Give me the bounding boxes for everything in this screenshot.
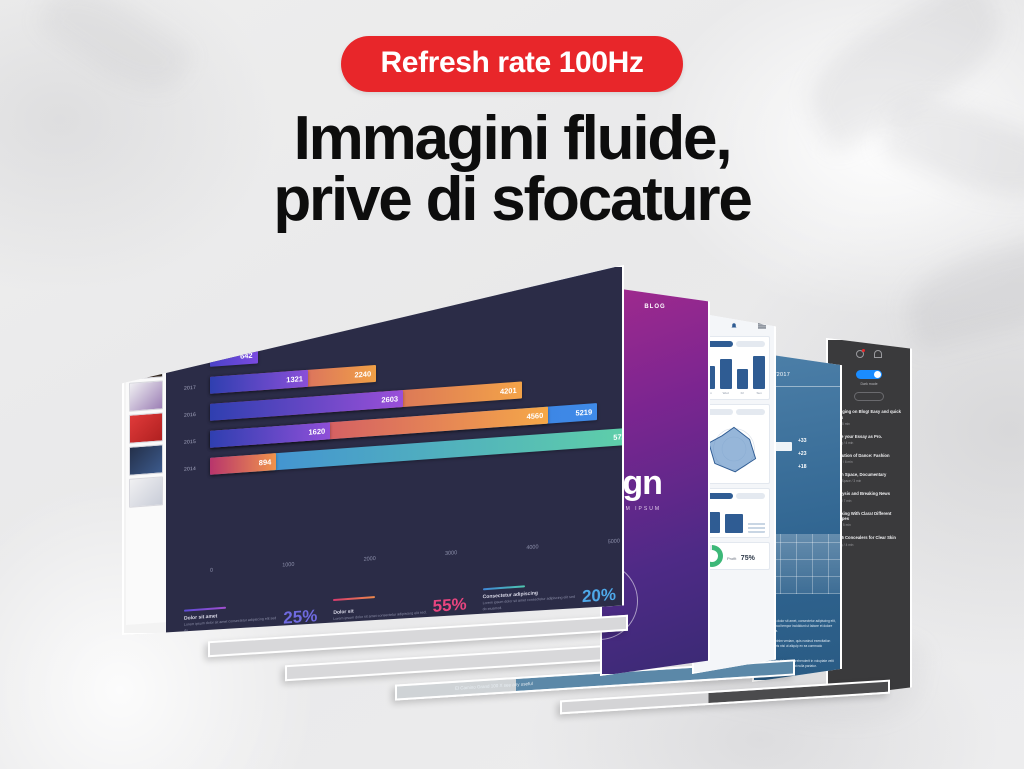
bar-category-label: 2015 [184, 437, 210, 445]
report-value: +18 [798, 464, 806, 470]
article-meta: Beauty / 4 min [833, 543, 905, 547]
article-title: Blogging on Blog! Easy and quick ways [833, 409, 905, 420]
stat-text: Consectetur adipiscing Lorem ipsum dolor… [483, 588, 576, 612]
list-item[interactable]: Blogging on Blog! Easy and quick waysBlo… [833, 409, 905, 426]
period-toggle[interactable] [703, 341, 765, 347]
period-year[interactable] [736, 341, 766, 347]
headline-line-1: Immagini fluide, [294, 104, 731, 173]
list-item[interactable]: Top 5 Concealers for Clear SkinBeauty / … [833, 535, 905, 546]
report-value: +23 [798, 451, 806, 457]
dark-mode-toggle[interactable] [856, 370, 882, 379]
bar-segment: 1321 [210, 370, 308, 394]
screen-presentation[interactable]: Infographic Chart 2018642201722401321201… [122, 265, 624, 635]
article-meta: Writing / 4 min [833, 441, 905, 445]
bar-segment: 1620 [210, 422, 330, 448]
stat-rule [184, 607, 226, 612]
axis-tick: 5000 [608, 538, 620, 545]
list-item[interactable]: Make your Essay as Pro.Writing / 4 min [833, 434, 905, 445]
article-meta: Dance / 6 min [833, 460, 905, 464]
blog-pill[interactable] [854, 392, 884, 401]
bell-icon[interactable] [730, 322, 738, 330]
stat-block: Consectetur adipiscing Lorem ipsum dolor… [483, 579, 616, 612]
x-axis: 0 1000 2000 3000 4000 5000 [210, 538, 620, 573]
stat-block: Dolor sit amet Lorem ipsum dolor sit ame… [184, 600, 317, 633]
article-title: Make your Essay as Pro. [833, 434, 905, 440]
stat-row: Consectetur adipiscing Lorem ipsum dolor… [483, 585, 616, 612]
article-meta: Open Space / 3 min [833, 479, 905, 483]
stat-text: Dolor sit Lorem ipsum dolor sit amet con… [333, 603, 426, 622]
radar-chart [703, 419, 765, 479]
stat-rule [333, 596, 375, 601]
article-meta: News / 7 min [833, 499, 905, 503]
slide-canvas[interactable]: Infographic Chart 2018642201722401321201… [166, 265, 624, 635]
stat-text: Dolor sit amet Lorem ipsum dolor sit ame… [184, 609, 277, 633]
article-title: Analysis and Breaking News [833, 491, 905, 497]
bar-chart-horizontal: 2018642201722401321201642012603201552194… [184, 319, 618, 485]
article-meta: Blog / 5 min [833, 422, 905, 426]
article-title: Top 5 Concealers for Clear Skin [833, 535, 905, 541]
bar-chart-2 [703, 503, 765, 533]
bar-category-label: 2017 [184, 383, 210, 391]
report-values: +33 +23 +18 [798, 438, 806, 477]
slide-thumbnail[interactable] [129, 444, 163, 475]
bar-category-label: 2018 [184, 356, 210, 364]
axis-tick: Wed [720, 391, 732, 395]
axis-tick: Sun [753, 391, 765, 395]
profit-value: 75% [741, 555, 755, 562]
stat-percent: 55% [433, 596, 467, 615]
week-toggle[interactable] [703, 493, 765, 499]
axis-tick: 4000 [526, 544, 538, 551]
slide-thumbnail[interactable] [129, 476, 163, 507]
axis-tick: 2000 [364, 556, 376, 563]
bar-chart-labels: MonWedFriSun [703, 391, 765, 395]
article-title: Evolution of Dance: Fashion [833, 453, 905, 459]
axis-tick: 1000 [282, 562, 294, 569]
slide-thumbnail[interactable] [129, 412, 163, 443]
radar-chart-svg [703, 419, 765, 479]
axis-tick: 3000 [445, 550, 457, 557]
slide-thumbnail[interactable] [129, 348, 163, 379]
dark-blog-toolbar [828, 340, 910, 366]
axis-tick: Fri [737, 391, 749, 395]
stat-row: Dolor sit Lorem ipsum dolor sit amet con… [333, 596, 466, 623]
day-tab[interactable] [736, 493, 766, 499]
list-item[interactable]: Open Space, DocumentaryOpen Space / 3 mi… [833, 472, 905, 483]
radar-toggle[interactable] [703, 409, 765, 415]
list-item[interactable]: Cooking With Clara! Different RecipesFoo… [833, 511, 905, 528]
slide-thumbnail[interactable] [129, 316, 163, 347]
list-item[interactable]: Analysis and Breaking NewsNews / 7 min [833, 491, 905, 502]
bar-category-label: 2016 [184, 410, 210, 418]
profit-label: Profit [727, 556, 736, 561]
axis-tick: 0 [210, 568, 213, 574]
article-meta: Food / 5 min [833, 523, 905, 527]
headline-line-2: prive di sfocature [0, 169, 1024, 230]
app-title-bar [130, 266, 170, 276]
bar-segment: 642 [210, 346, 258, 366]
refresh-rate-badge: Refresh rate 100Hz [341, 36, 684, 92]
edge-label: El Camino Grand 100 X see any useful [455, 681, 533, 691]
stat-row: Dolor sit amet Lorem ipsum dolor sit ame… [184, 606, 317, 633]
page-title: Immagini fluide, prive di sfocature [0, 108, 1024, 231]
slide-thumbnail[interactable] [129, 380, 163, 411]
list-item[interactable]: Evolution of Dance: FashionDance / 6 min [833, 453, 905, 464]
stat-rule [483, 586, 525, 591]
bar-segment: 894 [210, 453, 276, 475]
bar-chart [703, 351, 765, 389]
bar-category-label: 2014 [184, 464, 210, 472]
profit-block: Profit 75% [727, 547, 755, 565]
stat-percent: 25% [283, 607, 317, 626]
stat-block: Dolor sit Lorem ipsum dolor sit amet con… [333, 590, 466, 623]
chart-title: Infographic Chart [184, 279, 612, 327]
notification-badge [862, 349, 865, 352]
stat-percent: 20% [582, 586, 616, 605]
article-title: Cooking With Clara! Different Recipes [833, 511, 905, 522]
bell-icon[interactable] [874, 350, 882, 358]
profile-icon[interactable] [856, 350, 864, 358]
report-value: +33 [798, 438, 806, 444]
slide-thumbnail-panel[interactable] [126, 312, 166, 625]
radar-tab-b[interactable] [736, 409, 766, 415]
hero-section: Refresh rate 100Hz Immagini fluide, priv… [0, 0, 1024, 231]
presentation-app: Infographic Chart 2018642201722401321201… [124, 267, 622, 633]
article-title: Open Space, Documentary [833, 472, 905, 478]
menu-icon[interactable] [758, 322, 766, 330]
